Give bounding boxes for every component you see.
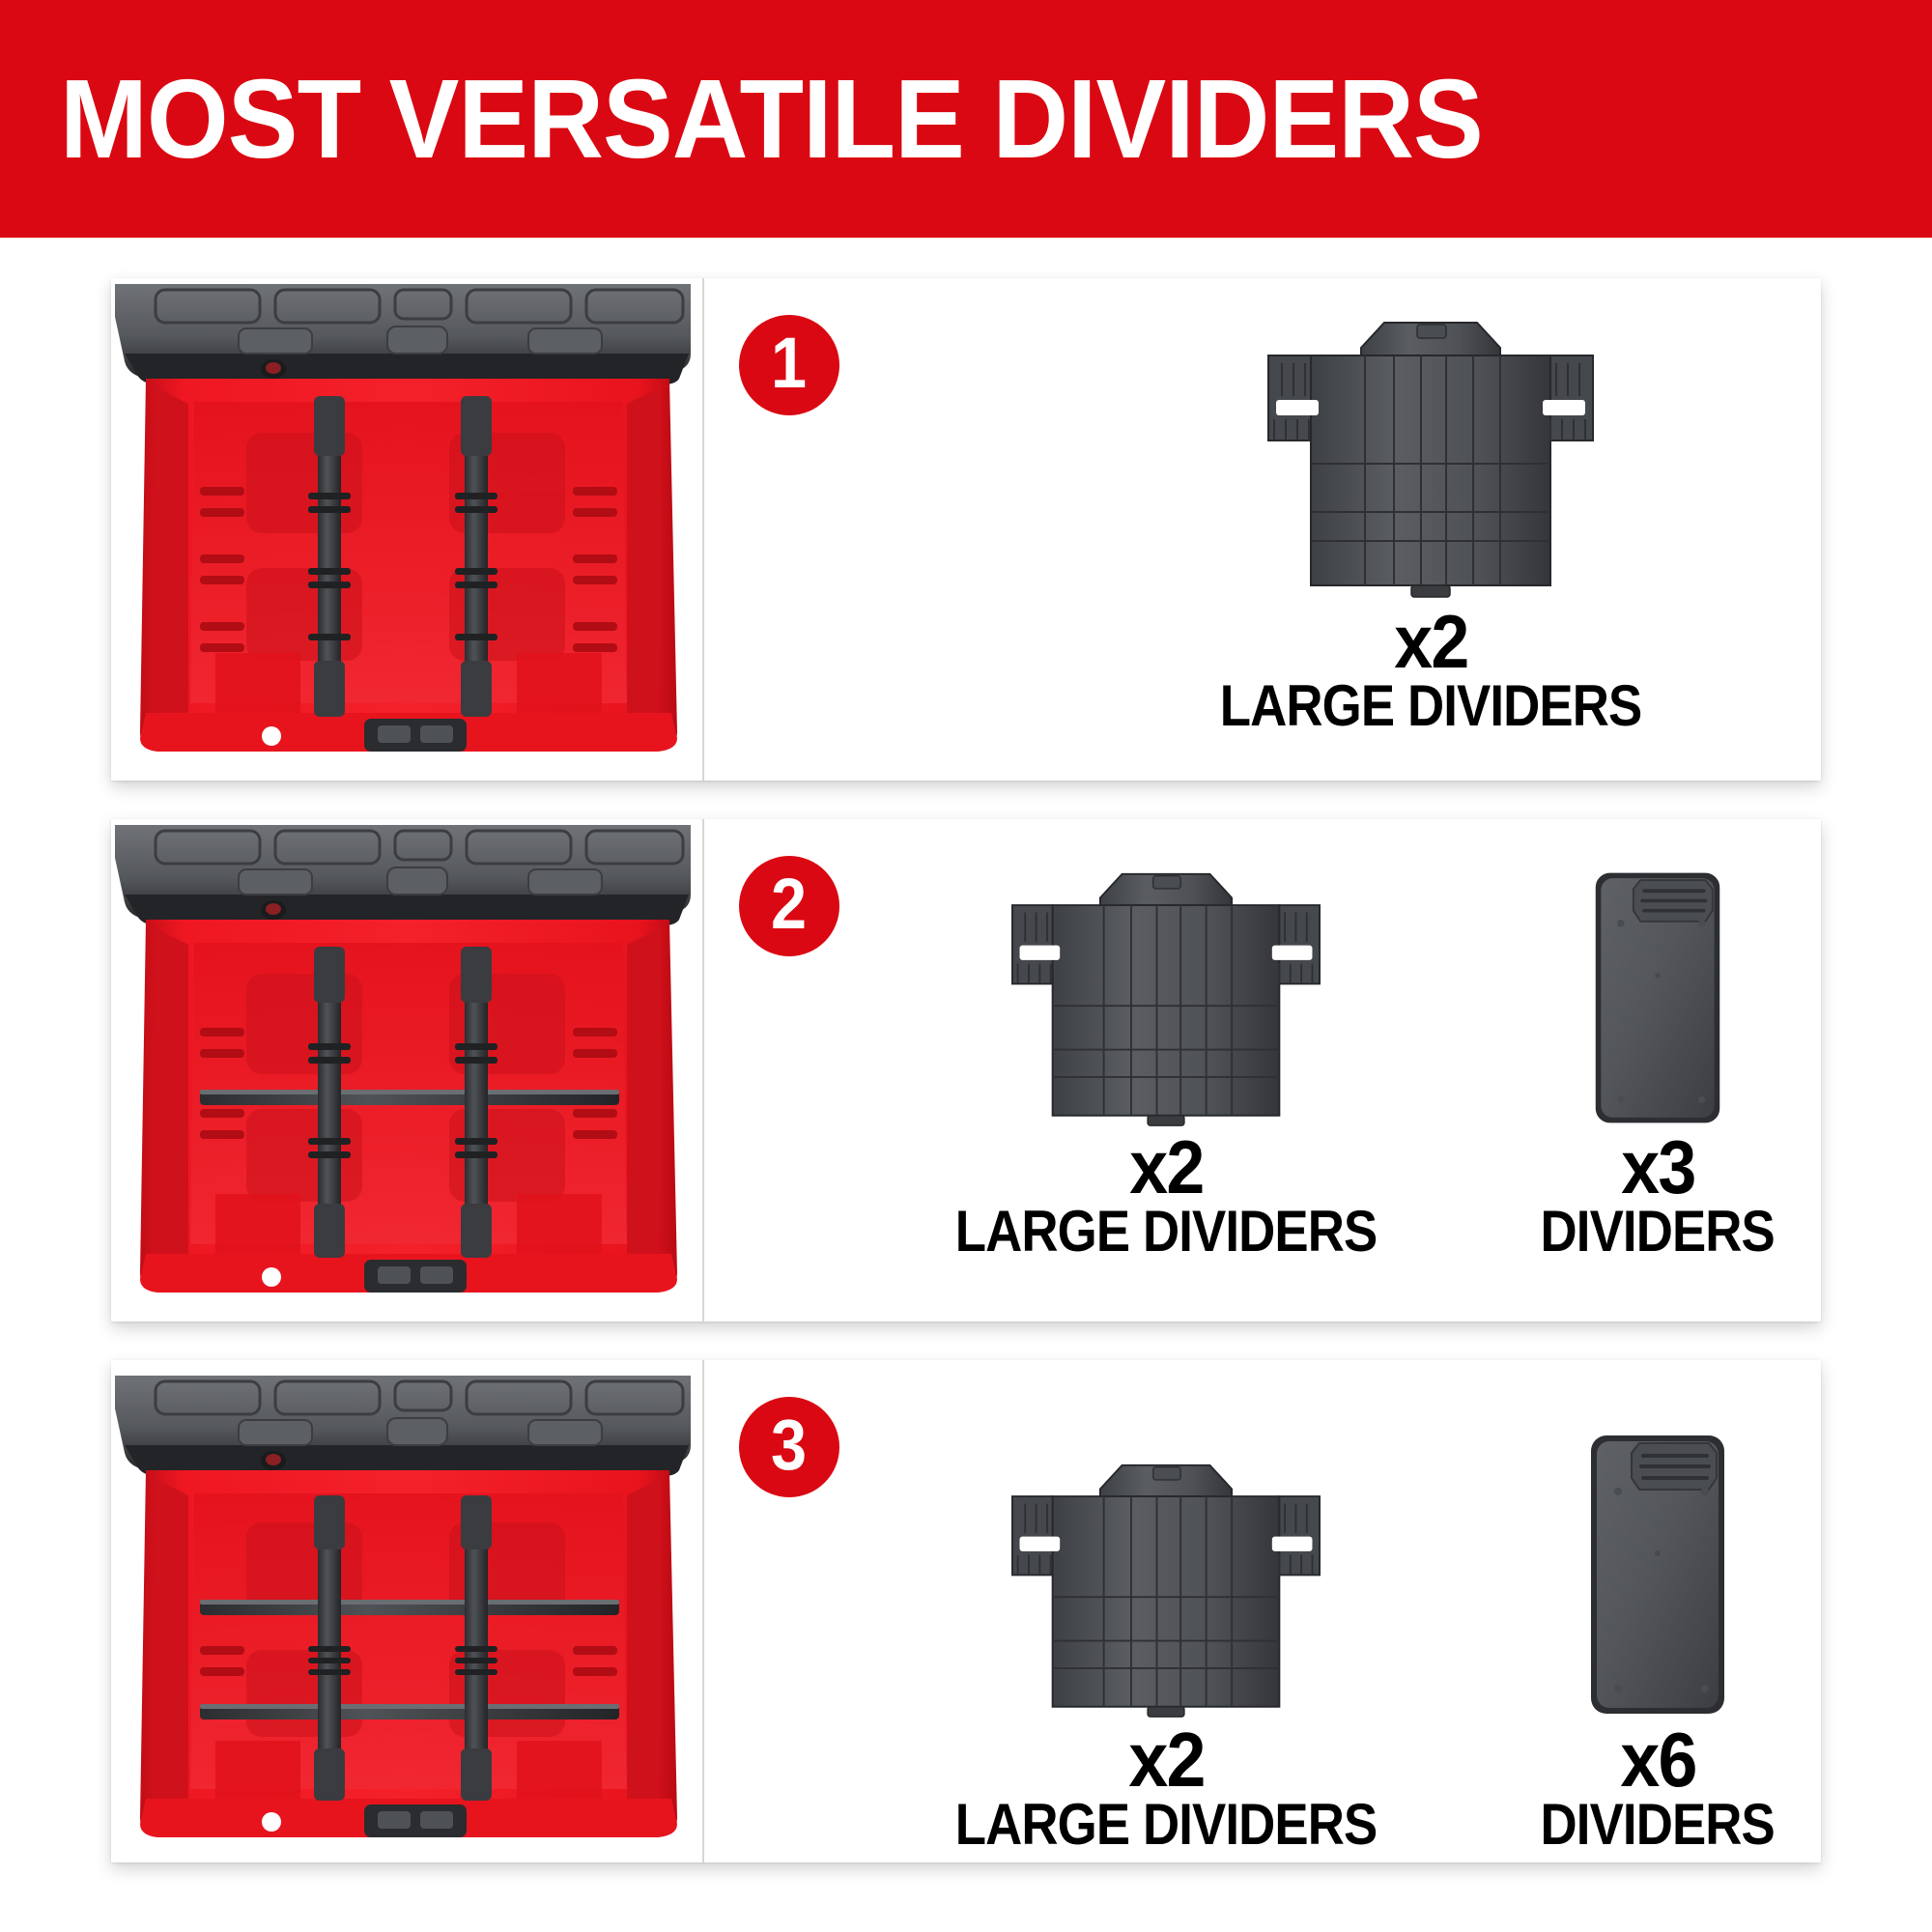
panel-content-3: 3 (704, 1360, 1821, 1862)
toolbox-illustration (111, 1360, 702, 1862)
item-large-divider: x2 LARGE DIVIDERS (926, 1372, 1406, 1854)
step-number: 1 (771, 327, 807, 399)
toolbox-tub (140, 1470, 677, 1837)
toolbox-lid (115, 284, 691, 384)
item-large-divider: x2 LARGE DIVIDERS (1131, 296, 1730, 735)
large-divider-art (1247, 296, 1614, 603)
toolbox-tub (140, 379, 677, 752)
step-badge-1: 1 (739, 315, 839, 415)
divider-icon (1585, 1430, 1730, 1719)
large-divider-icon (992, 1445, 1340, 1719)
config-panel-2: 2 (111, 819, 1821, 1321)
toolbox-illustration (111, 819, 702, 1321)
step-number: 3 (771, 1409, 807, 1481)
divider-icon (1590, 867, 1725, 1128)
header-banner: MOST VERSATILE DIVIDERS (0, 0, 1932, 238)
item-label: LARGE DIVIDERS (1220, 677, 1642, 735)
latch (364, 1260, 467, 1293)
toolbox-lid (115, 1376, 691, 1476)
large-divider-art (992, 1372, 1340, 1719)
item-label: LARGE DIVIDERS (955, 1203, 1378, 1261)
large-divider-icon (992, 854, 1340, 1128)
large-divider-art (992, 838, 1340, 1128)
config-panel-3: 3 (111, 1360, 1821, 1862)
item-list-2: x2 LARGE DIVIDERS (849, 819, 1811, 1321)
item-label: DIVIDERS (1541, 1203, 1775, 1261)
item-quantity: x2 (1394, 607, 1467, 677)
toolbox-photo-1 (111, 278, 702, 781)
small-divider-art (1585, 1372, 1730, 1719)
panel-content-2: 2 (704, 819, 1821, 1321)
latch (364, 719, 467, 752)
config-panel-1: 1 (111, 278, 1821, 781)
step-badge-3: 3 (739, 1397, 839, 1497)
item-standard-divider: x6 DIVIDERS (1504, 1372, 1811, 1854)
item-label: LARGE DIVIDERS (955, 1796, 1378, 1854)
toolbox-photo-2 (111, 819, 702, 1321)
page-title: MOST VERSATILE DIVIDERS (0, 63, 1483, 175)
panel-content-1: 1 (704, 278, 1821, 781)
item-quantity: x3 (1621, 1132, 1694, 1203)
latch (364, 1804, 467, 1837)
toolbox-tub (140, 920, 677, 1293)
item-quantity: x2 (1128, 1723, 1204, 1796)
step-number: 2 (771, 868, 807, 940)
item-standard-divider: x3 DIVIDERS (1504, 838, 1811, 1261)
item-list-3: x2 LARGE DIVIDERS (849, 1360, 1811, 1862)
item-large-divider: x2 LARGE DIVIDERS (926, 838, 1406, 1261)
item-list-1: x2 LARGE DIVIDERS (849, 278, 1811, 781)
item-quantity: x6 (1620, 1723, 1695, 1796)
toolbox-illustration (111, 278, 702, 781)
step-badge-2: 2 (739, 856, 839, 956)
item-label: DIVIDERS (1541, 1796, 1775, 1854)
infographic-page: MOST VERSATILE DIVIDERS (0, 0, 1932, 1932)
toolbox-photo-3 (111, 1360, 702, 1862)
large-divider-icon (1247, 296, 1614, 603)
item-quantity: x2 (1129, 1132, 1203, 1203)
toolbox-lid (115, 825, 691, 925)
small-divider-art (1590, 838, 1725, 1128)
